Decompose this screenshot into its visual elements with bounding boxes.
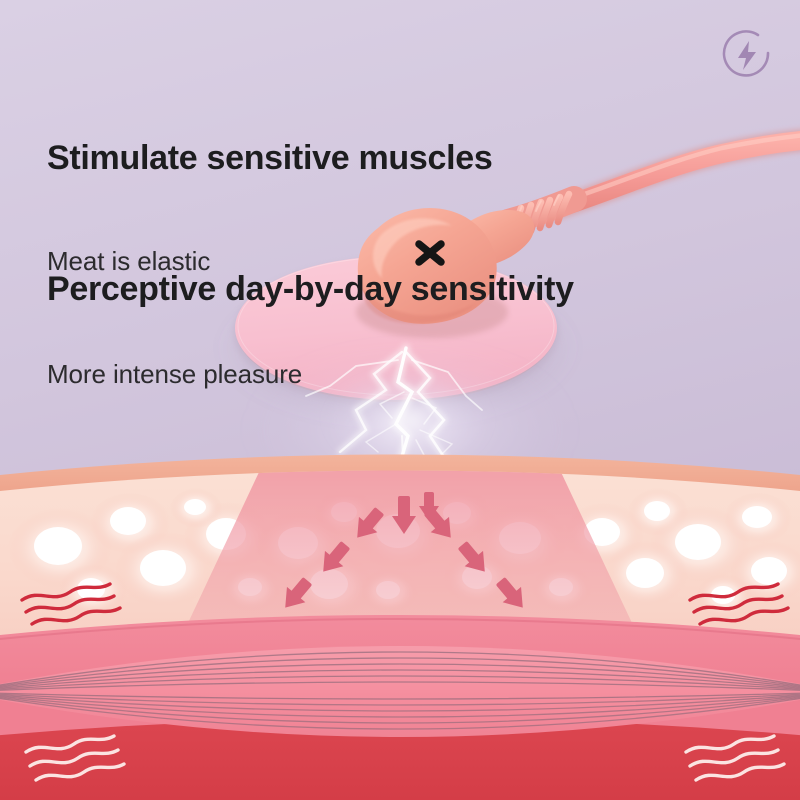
infographic-canvas: Stimulate sensitive muscles Perceptive d… [0, 0, 800, 800]
fat-cell [170, 488, 222, 528]
illustration-layer [0, 0, 800, 800]
stimulation-zone [180, 470, 640, 640]
fat-cell [724, 492, 792, 544]
